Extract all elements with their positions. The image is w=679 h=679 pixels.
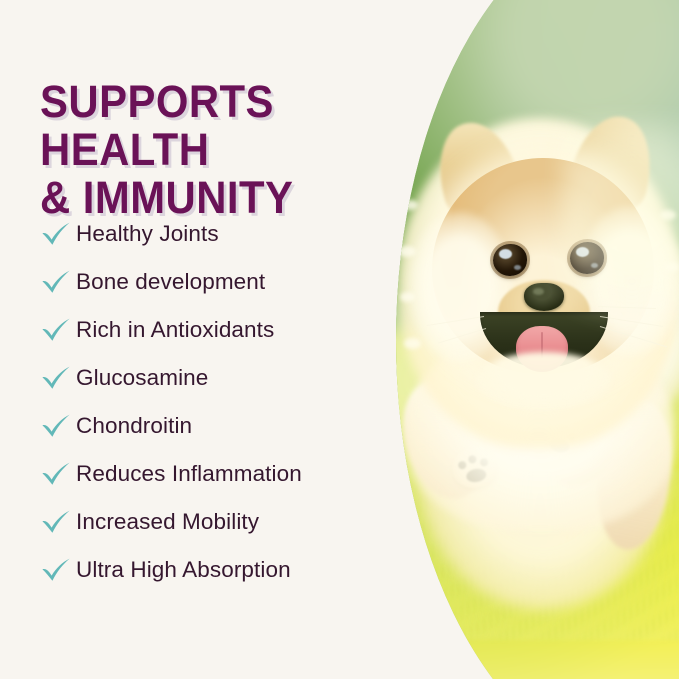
list-item: Rich in Antioxidants xyxy=(36,306,426,354)
eye-highlight xyxy=(576,247,589,257)
list-item: Ultra High Absorption xyxy=(36,546,426,594)
check-icon xyxy=(36,461,76,487)
page-title: SUPPORTS HEALTH & IMMUNITY xyxy=(40,78,412,222)
fur-tuft xyxy=(664,262,679,272)
list-item: Reduces Inflammation xyxy=(36,450,426,498)
list-item-label: Rich in Antioxidants xyxy=(76,317,274,343)
list-item-label: Healthy Joints xyxy=(76,221,219,247)
check-icon xyxy=(36,557,76,583)
list-item-label: Reduces Inflammation xyxy=(76,461,302,487)
list-item: Increased Mobility xyxy=(36,498,426,546)
eye-highlight xyxy=(591,263,598,268)
product-benefits-infographic: SUPPORTS HEALTH & IMMUNITY Healthy Joint… xyxy=(0,0,679,679)
check-icon xyxy=(36,269,76,295)
list-item-label: Chondroitin xyxy=(76,413,192,439)
list-item: Bone development xyxy=(36,258,426,306)
dog-eye-right xyxy=(570,242,604,274)
list-item: Healthy Joints xyxy=(36,210,426,258)
dog-eye-left xyxy=(493,244,527,276)
check-icon xyxy=(36,413,76,439)
list-item: Chondroitin xyxy=(36,402,426,450)
fur-tuft xyxy=(660,210,676,220)
check-icon xyxy=(36,509,76,535)
list-item: Glucosamine xyxy=(36,354,426,402)
check-icon xyxy=(36,317,76,343)
check-icon xyxy=(36,365,76,391)
list-item-label: Glucosamine xyxy=(76,365,208,391)
eye-highlight xyxy=(514,265,521,270)
list-item-label: Ultra High Absorption xyxy=(76,557,291,583)
eye-highlight xyxy=(499,249,512,259)
dog-nose xyxy=(524,283,564,311)
list-item-label: Increased Mobility xyxy=(76,509,259,535)
list-item-label: Bone development xyxy=(76,269,265,295)
dog-chin-fur xyxy=(476,352,612,410)
check-icon xyxy=(36,221,76,247)
benefits-list: Healthy Joints Bone development Rich in … xyxy=(36,210,426,594)
text-column: SUPPORTS HEALTH & IMMUNITY Healthy Joint… xyxy=(0,0,430,679)
